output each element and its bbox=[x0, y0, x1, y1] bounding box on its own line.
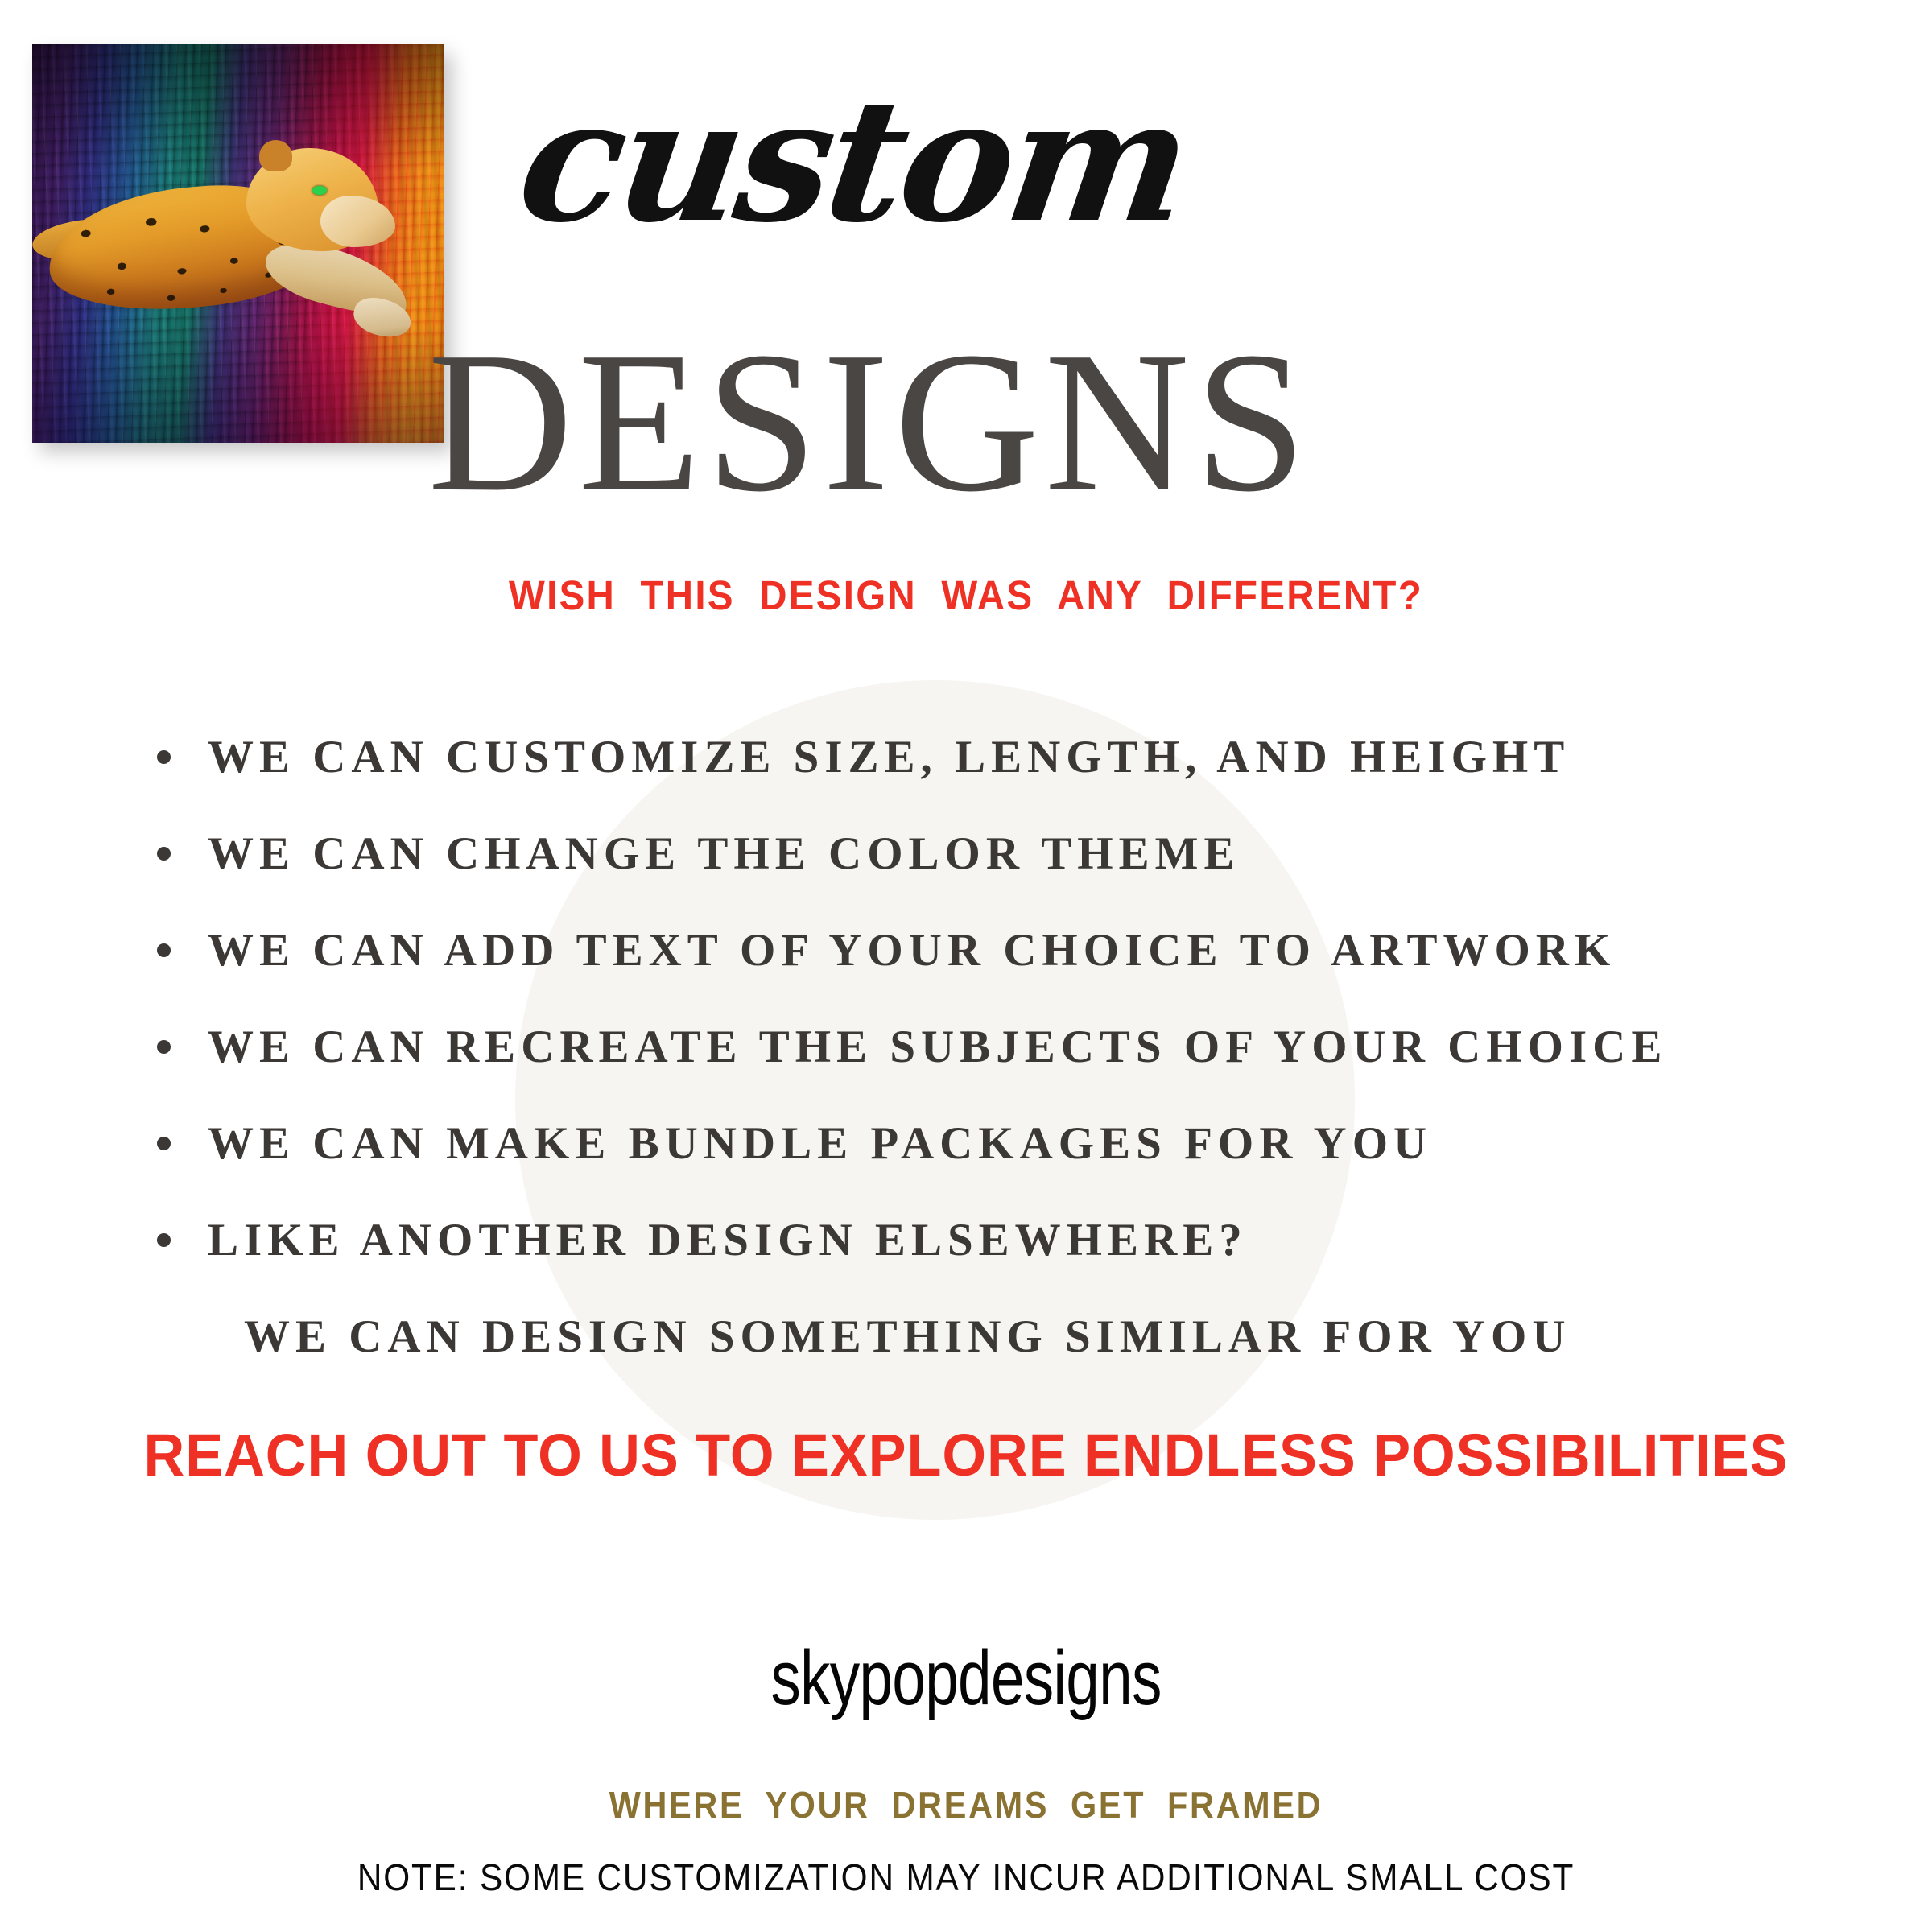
list-item: WE CAN MAKE BUNDLE PACKAGES FOR YOU bbox=[157, 1095, 1847, 1191]
subtitle-question: WISH THIS DESIGN WAS ANY DIFFERENT? bbox=[68, 572, 1864, 619]
leopard-ear bbox=[259, 140, 292, 172]
list-item-label: WE CAN MAKE BUNDLE PACKAGES FOR YOU bbox=[208, 1117, 1432, 1170]
bullet-dot-icon bbox=[157, 847, 171, 861]
list-item-label: WE CAN CHANGE THE COLOR THEME bbox=[208, 828, 1240, 880]
bullet-dot-icon bbox=[157, 1040, 171, 1054]
bullet-dot-icon bbox=[157, 1137, 171, 1150]
list-item: WE CAN CHANGE THE COLOR THEME bbox=[157, 805, 1847, 902]
page-title: DESIGNS bbox=[419, 322, 1320, 523]
leopard-eye bbox=[312, 186, 326, 195]
brand-logo-text: skypopdesigns bbox=[213, 1634, 1719, 1723]
bullet-dot-icon bbox=[157, 943, 171, 957]
list-item: LIKE ANOTHER DESIGN ELSEWHERE? bbox=[157, 1191, 1847, 1288]
list-item: WE CAN RECREATE THE SUBJECTS OF YOUR CHO… bbox=[157, 998, 1847, 1095]
artwork-thumbnail[interactable] bbox=[32, 44, 444, 443]
list-item-continuation: WE CAN DESIGN SOMETHING SIMILAR FOR YOU bbox=[157, 1288, 1847, 1385]
list-item-label: WE CAN DESIGN SOMETHING SIMILAR FOR YOU bbox=[244, 1311, 1571, 1363]
features-list: WE CAN CUSTOMIZE SIZE, LENGTH, AND HEIGH… bbox=[157, 708, 1847, 1385]
list-item-label: LIKE ANOTHER DESIGN ELSEWHERE? bbox=[208, 1214, 1248, 1266]
brand-tagline: WHERE YOUR DREAMS GET FRAMED bbox=[97, 1783, 1835, 1827]
custom-script-heading: custom bbox=[439, 76, 1268, 246]
list-item-label: WE CAN CUSTOMIZE SIZE, LENGTH, AND HEIGH… bbox=[208, 731, 1570, 783]
bullet-dot-icon bbox=[157, 1233, 171, 1247]
list-item: WE CAN ADD TEXT OF YOUR CHOICE TO ARTWOR… bbox=[157, 902, 1847, 998]
promo-graphic-canvas: custom DESIGNS WISH THIS DESIGN WAS ANY … bbox=[0, 0, 1932, 1932]
list-item-label: WE CAN ADD TEXT OF YOUR CHOICE TO ARTWOR… bbox=[208, 924, 1616, 976]
footer-note: NOTE: SOME CUSTOMIZATION MAY INCUR ADDIT… bbox=[77, 1856, 1855, 1899]
cta-text[interactable]: REACH OUT TO US TO EXPLORE ENDLESS POSSI… bbox=[48, 1421, 1884, 1489]
list-item: WE CAN CUSTOMIZE SIZE, LENGTH, AND HEIGH… bbox=[157, 708, 1847, 805]
bullet-dot-icon bbox=[157, 750, 171, 764]
list-item-label: WE CAN RECREATE THE SUBJECTS OF YOUR CHO… bbox=[208, 1021, 1667, 1073]
